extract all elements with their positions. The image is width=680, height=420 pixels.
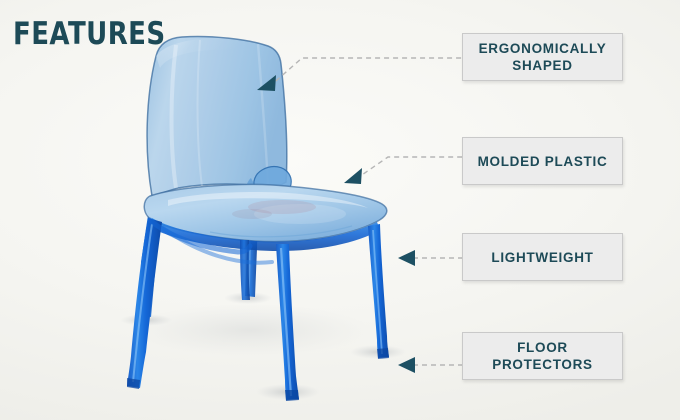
- page-title: FEATURES: [13, 17, 166, 51]
- connector-ergonomically-shaped: [255, 45, 470, 100]
- arrowhead-icon: [344, 168, 362, 184]
- arrowhead-icon: [398, 250, 415, 266]
- connector-floor-protectors: [396, 354, 468, 376]
- feature-label-ergonomically-shaped[interactable]: ERGONOMICALLY SHAPED: [462, 33, 623, 81]
- arrowhead-icon: [398, 357, 415, 373]
- connector-molded-plastic: [342, 145, 470, 193]
- feature-label-floor-protectors[interactable]: FLOOR PROTECTORS: [462, 332, 623, 380]
- feature-callout-graphic: FEATURES ERGONOMICALLY SHAPED MOLDED PLA…: [0, 0, 680, 420]
- feature-label-lightweight[interactable]: LIGHTWEIGHT: [462, 233, 623, 281]
- arrowhead-icon: [257, 75, 276, 91]
- feature-label-molded-plastic[interactable]: MOLDED PLASTIC: [462, 137, 623, 185]
- connector-lightweight: [396, 247, 468, 269]
